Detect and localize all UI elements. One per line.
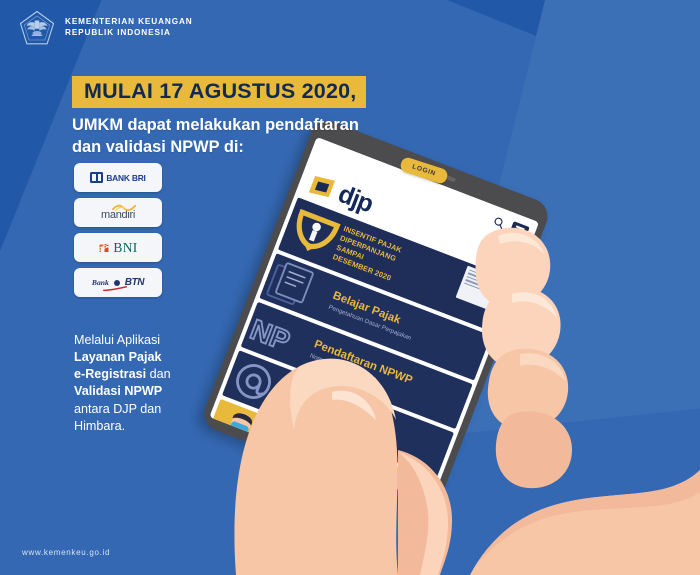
lower-copy-line-3a: e-Registrasi <box>74 367 146 381</box>
bank-card-bri: BANK BRI <box>74 163 162 192</box>
lower-copy-line-1: Melalui Aplikasi <box>74 333 160 347</box>
poster-header: KEMENTERIAN KEUANGAN REPUBLIK INDONESIA <box>18 10 193 46</box>
ministry-line-2: REPUBLIK INDONESIA <box>65 28 193 39</box>
login-button-label: LOGIN <box>411 163 436 177</box>
headline-line-3: dan validasi NPWP di: <box>72 137 366 158</box>
bank-logo-list: BANK BRI mandiri BNI <box>74 163 162 297</box>
headline-block: MULAI 17 AGUSTUS 2020, UMKM dapat melaku… <box>72 76 366 158</box>
lower-copy-line-3b: dan <box>146 367 171 381</box>
bank-label-bni: BNI <box>113 240 137 256</box>
ministry-line-1: KEMENTERIAN KEUANGAN <box>65 17 193 28</box>
bri-square-mark-icon <box>90 172 103 183</box>
left-hand <box>234 359 452 575</box>
lower-copy-line-2: Layanan Pajak <box>74 350 162 364</box>
headline-line-2: UMKM dapat melakukan pendaftaran <box>72 115 366 136</box>
infographic-poster: KEMENTERIAN KEUANGAN REPUBLIK INDONESIA … <box>0 0 700 575</box>
footer-url: www.kemenkeu.go.id <box>22 548 110 557</box>
bank-card-btn: Bank BTN <box>74 268 162 297</box>
lower-copy-block: Melalui Aplikasi Layanan Pajak e-Registr… <box>74 332 171 435</box>
mandiri-waves-mark-icon <box>112 204 136 211</box>
right-hand <box>470 228 700 575</box>
btn-swoosh-mark-icon <box>100 286 130 291</box>
lower-copy-line-6: Himbara. <box>74 419 125 433</box>
bank-card-bni: BNI <box>74 233 162 262</box>
bni-46-mark-icon <box>98 242 110 254</box>
bank-label-bri: BANK BRI <box>106 173 145 183</box>
headline-highlight: MULAI 17 AGUSTUS 2020, <box>72 76 366 108</box>
lower-copy-line-5: antara DJP dan <box>74 402 161 416</box>
kemenkeu-pentagon-wings-logo <box>18 10 56 46</box>
btn-dot-icon <box>114 280 120 286</box>
lower-copy-line-4: Validasi NPWP <box>74 384 162 398</box>
bank-card-mandiri: mandiri <box>74 198 162 227</box>
ministry-name: KEMENTERIAN KEUANGAN REPUBLIK INDONESIA <box>65 17 193 39</box>
